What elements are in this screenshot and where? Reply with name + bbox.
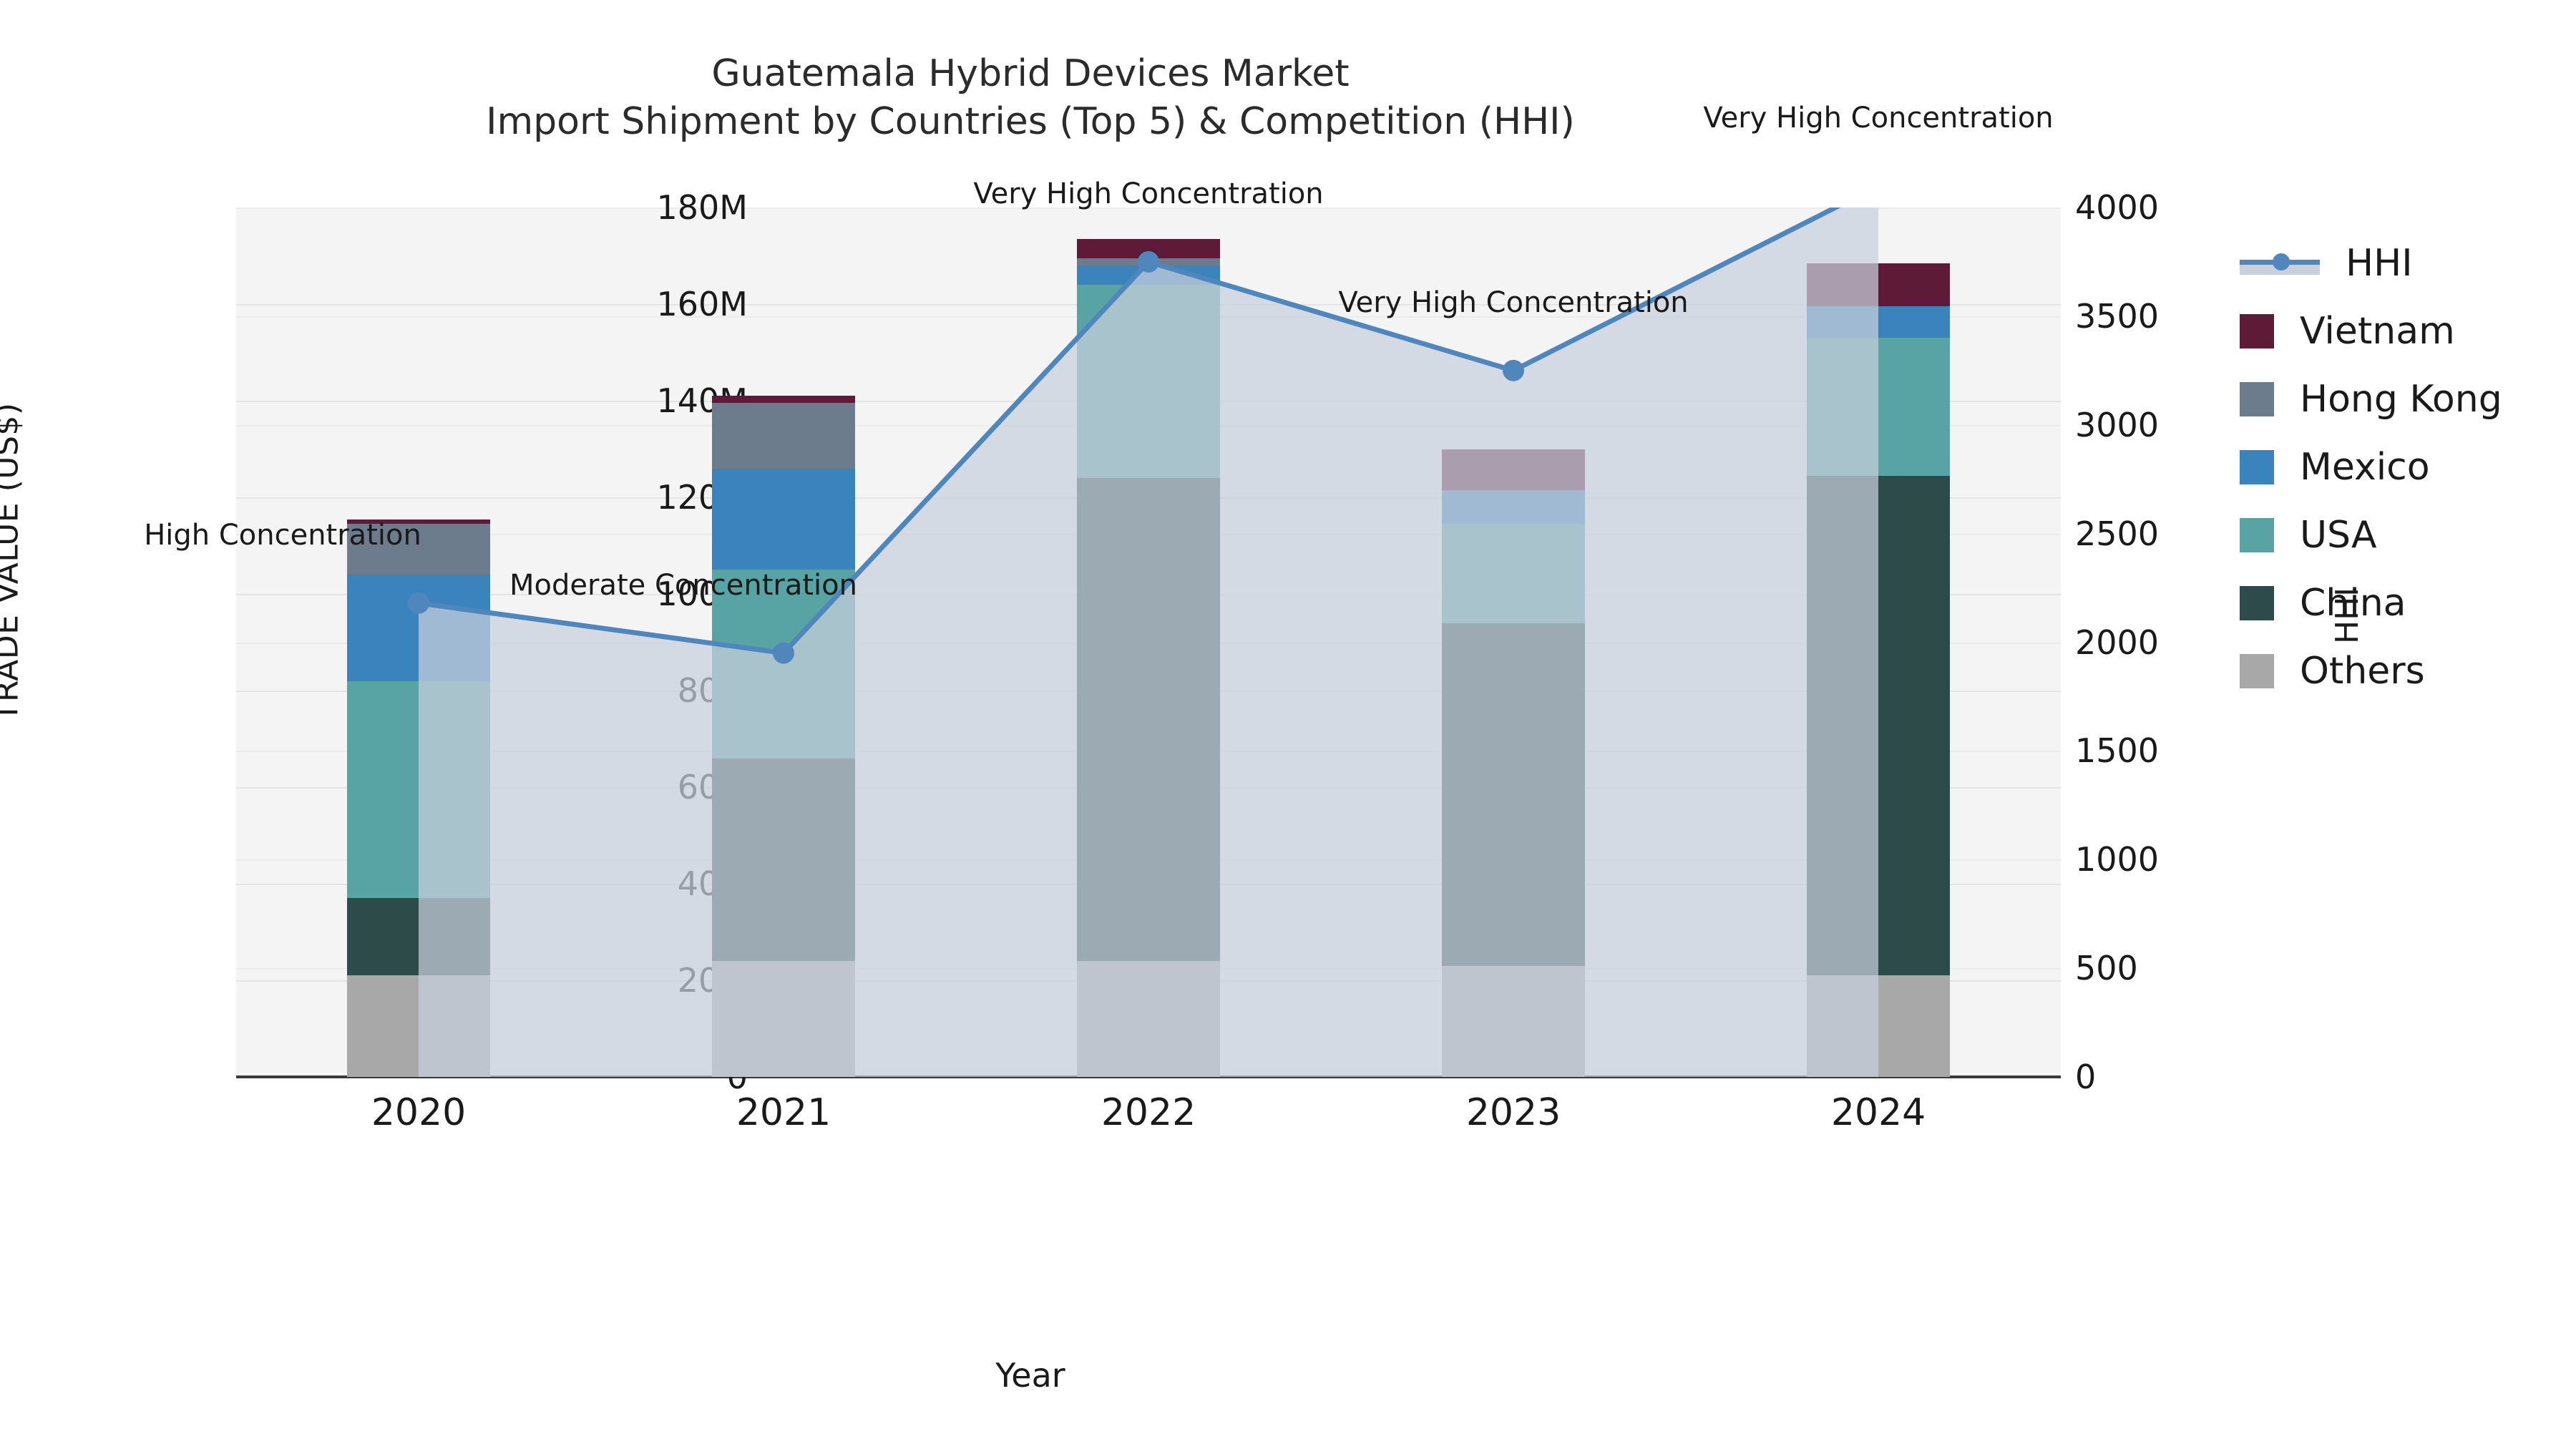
hhi-marker[interactable] [408,592,429,614]
annotation-label: Very High Concentration [1338,286,1688,319]
legend-swatch [2240,382,2274,416]
y2-tick-label: 1500 [2075,731,2159,770]
hhi-marker[interactable] [1503,360,1524,381]
chart-title-line1: Guatemala Hybrid Devices Market [0,50,2061,98]
y2-tick-label: 2000 [2075,623,2159,662]
legend-swatch [2240,314,2274,348]
legend-swatch [2240,586,2274,620]
x-tick-label: 2020 [371,1091,466,1134]
y2-tick-label: 1000 [2075,840,2159,879]
legend-item-china[interactable]: China [2240,569,2502,637]
hhi-marker[interactable] [1138,251,1159,273]
annotation-label: Very High Concentration [1703,102,2053,135]
x-tick-label: 2023 [1466,1091,1561,1134]
x-tick-label: 2024 [1831,1091,1926,1134]
hhi-marker[interactable] [773,643,794,664]
y2-tick-label: 500 [2075,949,2138,987]
legend-swatch [2240,450,2274,484]
legend-item-hong-kong[interactable]: Hong Kong [2240,365,2502,433]
y2-tick-label: 2500 [2075,514,2159,553]
x-tick-label: 2021 [736,1091,831,1134]
y2-tick-label: 4000 [2075,188,2159,227]
hhi-line [236,208,2061,1077]
annotation-label: Moderate Concentration [509,569,857,602]
legend-label: USA [2300,514,2377,557]
legend-label: China [2300,582,2406,625]
legend-item-vietnam[interactable]: Vietnam [2240,297,2502,365]
legend-item-hhi[interactable]: HHI [2240,229,2502,297]
legend-item-others[interactable]: Others [2240,637,2502,705]
legend: HHIVietnamHong KongMexicoUSAChinaOthers [2240,229,2502,705]
y-axis-label: TRADE VALUE (US$) [0,348,26,777]
x-axis-label: Year [0,1356,2061,1395]
legend-label: Mexico [2300,446,2430,489]
y2-tick-label: 3500 [2075,297,2159,336]
y2-tick-label: 3000 [2075,406,2159,444]
legend-label: Vietnam [2300,310,2455,353]
chart-canvas: Guatemala Hybrid Devices Market Import S… [0,0,2576,1449]
legend-item-usa[interactable]: USA [2240,501,2502,569]
legend-swatch [2240,518,2274,552]
plot-area: High ConcentrationModerate Concentration… [236,208,2061,1077]
x-tick-label: 2022 [1101,1091,1196,1134]
annotation-label: High Concentration [144,519,421,552]
legend-item-mexico[interactable]: Mexico [2240,433,2502,501]
legend-line-marker [2240,246,2320,280]
legend-swatch [2240,654,2274,688]
legend-label: Hong Kong [2300,378,2502,421]
annotation-label: Very High Concentration [973,177,1323,210]
legend-label: Others [2300,650,2425,693]
y2-tick-label: 0 [2075,1058,2096,1096]
legend-label: HHI [2346,242,2413,285]
